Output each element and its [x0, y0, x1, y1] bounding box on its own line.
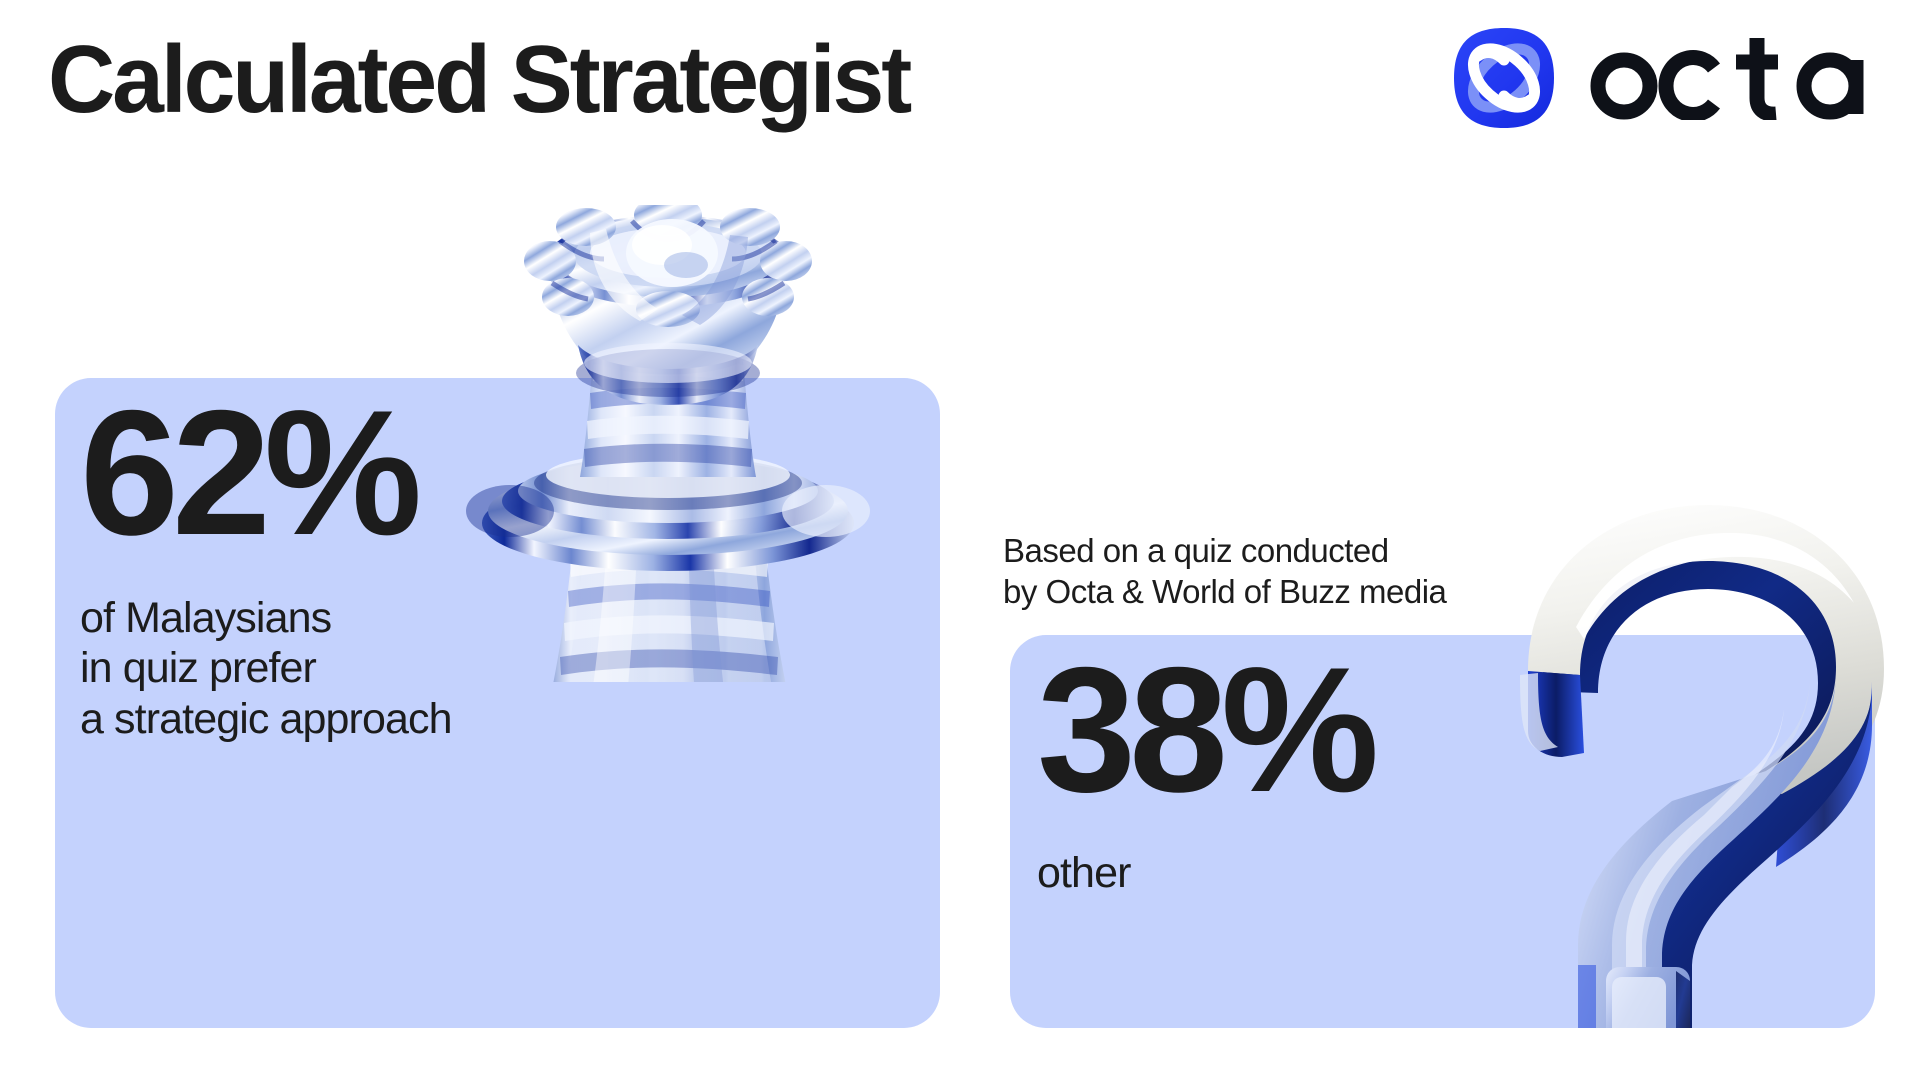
octa-wordmark [1582, 36, 1872, 120]
stat-secondary-value: 38% [1037, 645, 1557, 814]
stat-secondary-caption: other [1037, 848, 1557, 898]
source-note: Based on a quiz conducted by Octa & Worl… [1003, 530, 1446, 613]
brand-lockup[interactable] [1452, 26, 1872, 130]
stat-primary: 62% of Malaysians in quiz prefer a strat… [80, 388, 700, 744]
octa-orbit-icon [1452, 26, 1556, 130]
header: Calculated Strategist [0, 0, 1920, 190]
stat-secondary: 38% other [1037, 645, 1557, 898]
page-title: Calculated Strategist [48, 32, 909, 128]
stat-primary-caption: of Malaysians in quiz prefer a strategic… [80, 593, 700, 744]
stat-primary-value: 62% [80, 388, 700, 557]
